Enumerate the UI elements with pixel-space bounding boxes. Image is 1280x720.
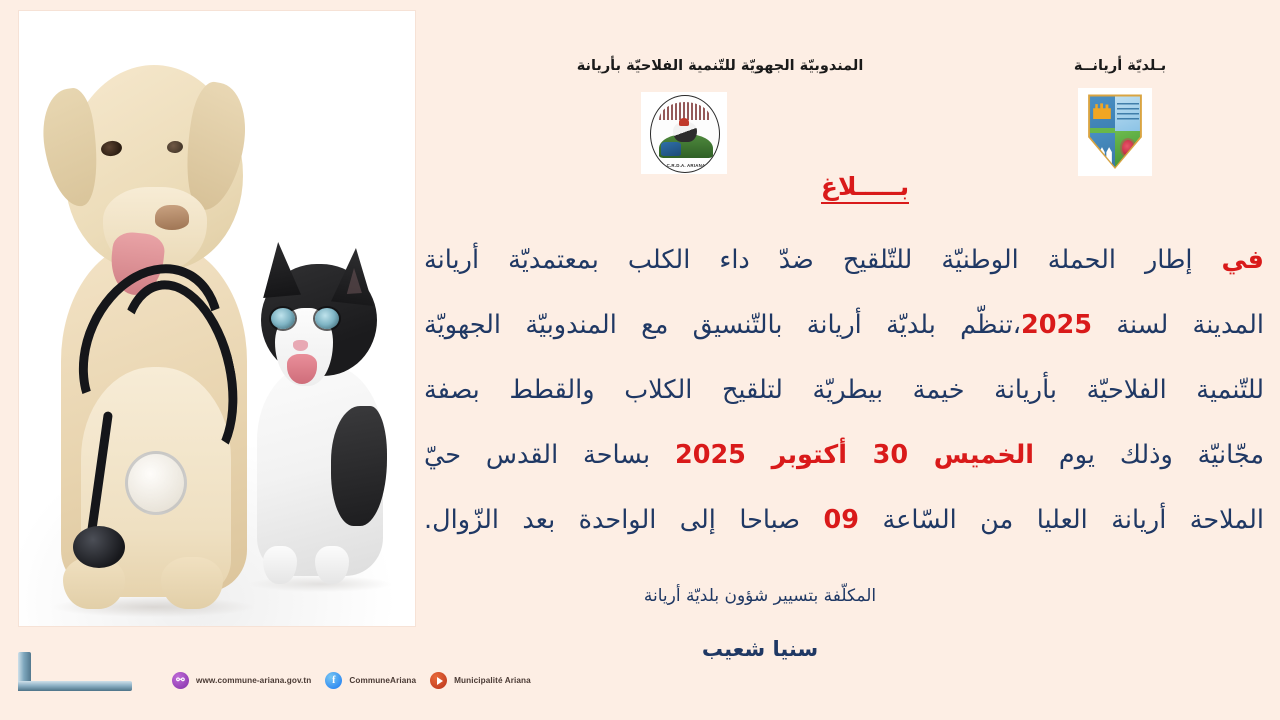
announcement-line-4-part-a: مجّانيّة وذلك يوم bbox=[1034, 440, 1264, 470]
announcement-line-1: في إطار الحملة الوطنيّة للتّلقيح ضدّ داء… bbox=[424, 228, 1264, 293]
pets-photo bbox=[19, 11, 415, 626]
crda-seal-caption: C.R.D.A. ARIANA bbox=[663, 163, 709, 168]
shield-quadrant-water bbox=[1115, 95, 1141, 131]
shield-quadrants bbox=[1089, 95, 1141, 167]
corner-bracket-horizontal bbox=[18, 681, 132, 691]
announcement-line-4-highlight: الخميس 30 أكتوبر 2025 bbox=[675, 440, 1034, 470]
crda-seal-accent bbox=[679, 118, 689, 126]
social-media-bar: ⚯ www.commune-ariana.gov.tn f CommuneAri… bbox=[172, 672, 531, 689]
shield-green-band bbox=[1089, 128, 1115, 133]
announcement-line-3: للتّنمية الفلاحيّة بأريانة خيمة بيطريّة … bbox=[424, 358, 1264, 423]
social-label-website: www.commune-ariana.gov.tn bbox=[196, 676, 311, 685]
globe-icon: ⚯ bbox=[172, 672, 189, 689]
announcement-line-1-highlight: في bbox=[1222, 245, 1265, 275]
announcement-title: بـــــلاغ bbox=[760, 172, 970, 201]
social-link-youtube[interactable]: Municipalité Ariana bbox=[430, 672, 531, 689]
kitten-eye-right bbox=[315, 308, 339, 329]
crda-seal-water bbox=[661, 142, 681, 156]
kitten-paw-right bbox=[315, 546, 349, 584]
announcement-line-5: الملاحة أريانة العليا من السّاعة 09 صباح… bbox=[424, 488, 1264, 553]
stethoscope-chestpiece bbox=[73, 526, 125, 568]
social-label-facebook: CommuneAriana bbox=[349, 676, 416, 685]
corner-bracket-decoration bbox=[18, 652, 132, 694]
announcement-line-5-highlight: 09 bbox=[823, 505, 859, 535]
stethoscope-bell bbox=[125, 451, 187, 515]
youtube-icon bbox=[430, 672, 447, 689]
crda-header-title: المندوبيّة الجهويّة للتّنمية الفلاحيّة ب… bbox=[500, 58, 940, 74]
announcement-line-2: المدينة لسنة 2025،تنظّم بلديّة أريانة با… bbox=[424, 293, 1264, 358]
photo-background bbox=[19, 11, 415, 626]
announcement-line-5-part-b: صباحا إلى الواحدة بعد الزّوال. bbox=[424, 505, 823, 535]
municipality-header-title: بـلديّة أريانــة bbox=[1000, 58, 1240, 74]
kitten-nose bbox=[293, 340, 308, 351]
stethoscope-stem bbox=[86, 411, 113, 541]
signature-name: سنيا شعيب bbox=[520, 637, 1000, 661]
signature-role: المكلّفة بتسيير شؤون بلديّة أريانة bbox=[520, 586, 1000, 606]
kitten-illustration bbox=[227, 246, 402, 601]
announcement-title-text: بـــــلاغ bbox=[821, 172, 909, 204]
crda-seal-oval: C.R.D.A. ARIANA bbox=[650, 95, 720, 173]
waves-icon bbox=[1117, 103, 1139, 122]
shield-quadrant-castle bbox=[1089, 95, 1115, 131]
announcement-line-2-part-a: المدينة لسنة bbox=[1092, 310, 1264, 340]
announcement-line-2-highlight: 2025 bbox=[1021, 310, 1092, 340]
social-link-facebook[interactable]: f CommuneAriana bbox=[325, 672, 416, 689]
facebook-icon: f bbox=[325, 672, 342, 689]
announcement-line-4-part-b: بساحة القدس حيّ bbox=[424, 440, 675, 470]
announcement-poster: المندوبيّة الجهويّة للتّنمية الفلاحيّة ب… bbox=[0, 0, 1280, 720]
kitten-paw-left bbox=[263, 546, 297, 584]
castle-icon bbox=[1093, 101, 1111, 120]
social-label-youtube: Municipalité Ariana bbox=[454, 676, 531, 685]
shield-quadrant-arches bbox=[1089, 131, 1115, 167]
municipality-shield-logo bbox=[1078, 88, 1152, 176]
crda-seal-scene bbox=[657, 120, 713, 158]
announcement-line-1-rest: إطار الحملة الوطنيّة للتّلقيح ضدّ داء ال… bbox=[424, 245, 1192, 275]
announcement-body: في إطار الحملة الوطنيّة للتّلقيح ضدّ داء… bbox=[424, 228, 1264, 553]
puppy-nose bbox=[155, 205, 189, 230]
announcement-line-4: مجّانيّة وذلك يوم الخميس 30 أكتوبر 2025 … bbox=[424, 423, 1264, 488]
puppy-paw-right bbox=[161, 557, 223, 609]
announcement-line-5-part-a: الملاحة أريانة العليا من السّاعة bbox=[859, 505, 1264, 535]
kitten-eye-left bbox=[271, 308, 295, 329]
crda-seal-logo: C.R.D.A. ARIANA bbox=[641, 92, 727, 174]
shield-quadrant-rose bbox=[1115, 131, 1141, 167]
social-link-website[interactable]: ⚯ www.commune-ariana.gov.tn bbox=[172, 672, 311, 689]
announcement-line-2-part-b: ،تنظّم بلديّة أريانة بالتّنسيق مع المندو… bbox=[424, 310, 1021, 340]
